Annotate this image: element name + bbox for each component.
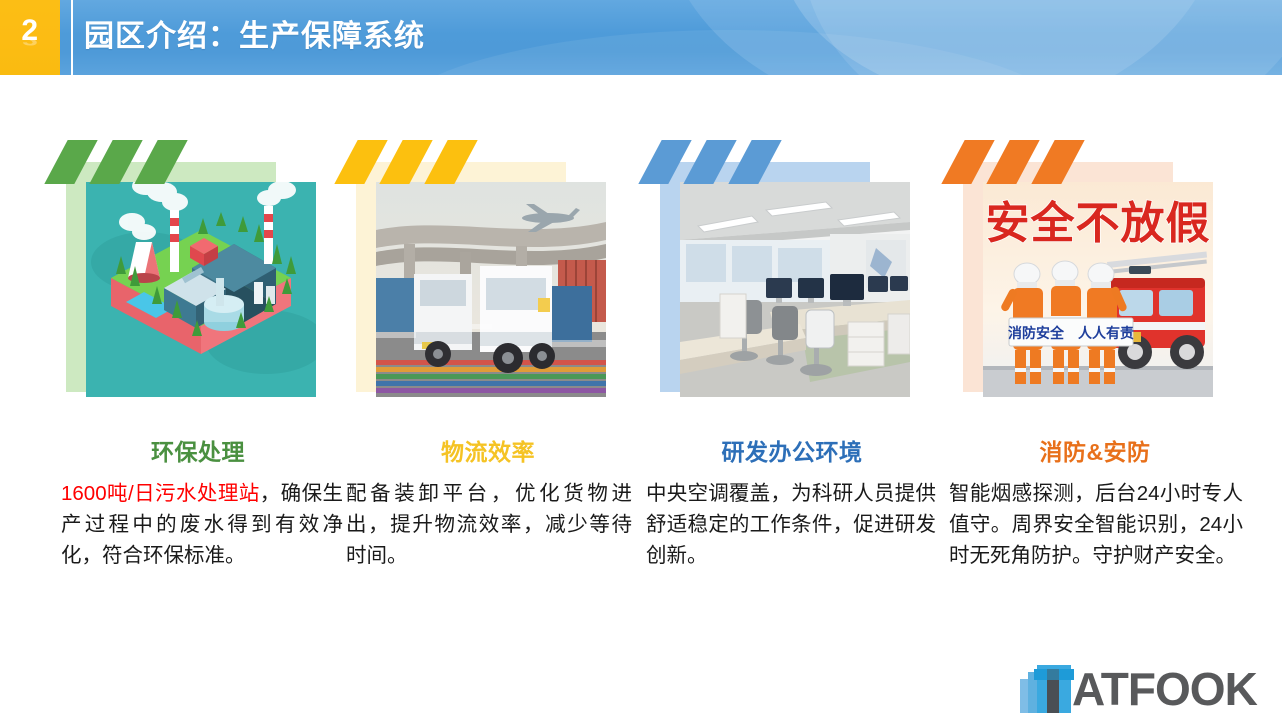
card-environmental-protection[interactable]: 环保处理 1600吨/日污水处理站，确保生产过程中的废水得到有效净化，符合环保标… bbox=[48, 140, 348, 640]
title-divider bbox=[71, 0, 73, 75]
office-workstations-photo bbox=[680, 182, 910, 397]
svg-text:安全不放假: 安全不放假 bbox=[986, 198, 1211, 248]
card-description: 中央空调覆盖，为科研人员提供舒适稳定的工作条件，促进研发创新。 bbox=[646, 478, 936, 571]
fire-safety-poster-illustration: 安全不放假 bbox=[983, 182, 1213, 397]
card-stripe-decoration bbox=[945, 140, 1125, 184]
slide-number-badge: 2 2 bbox=[0, 0, 60, 75]
card-description: 1600吨/日污水处理站，确保生产过程中的废水得到有效净化，符合环保标准。 bbox=[61, 478, 343, 571]
card-rd-office-environment[interactable]: 研发办公环境 中央空调覆盖，为科研人员提供舒适稳定的工作条件，促进研发创新。 bbox=[642, 140, 942, 640]
card-description-rest: 配备装卸平台，优化货物进出，提升物流效率，减少等待时间。 bbox=[346, 482, 632, 567]
card-description-rest: 智能烟感探测，后台24小时专人值守。周界安全智能识别，24小时无死角防护。守护财… bbox=[949, 482, 1243, 567]
card-logistics-efficiency[interactable]: 物流效率 配备装卸平台，优化货物进出，提升物流效率，减少等待时间。 bbox=[338, 140, 638, 640]
card-title: 消防&安防 bbox=[945, 438, 1245, 466]
card-description-highlight: 1600吨/日污水处理站 bbox=[61, 482, 260, 505]
tatfook-wordmark: ATFOOK bbox=[1072, 663, 1257, 715]
slide-header: 2 2 园区介绍：生产保障系统 bbox=[0, 0, 1282, 75]
card-stripe-decoration bbox=[642, 140, 822, 184]
card-title: 研发办公环境 bbox=[642, 438, 942, 466]
card-stripe-decoration bbox=[338, 140, 518, 184]
svg-text:消防安全 人人有责: 消防安全 人人有责 bbox=[1008, 325, 1134, 341]
card-description-rest: 中央空调覆盖，为科研人员提供舒适稳定的工作条件，促进研发创新。 bbox=[646, 482, 936, 567]
slide-number-reflection: 2 bbox=[0, 38, 60, 47]
card-fire-and-security[interactable]: 安全不放假 bbox=[945, 140, 1245, 640]
logistics-trucks-photo bbox=[376, 182, 606, 397]
card-title: 物流效率 bbox=[338, 438, 638, 466]
card-stripe-decoration bbox=[48, 140, 228, 184]
power-plant-isometric-illustration bbox=[86, 182, 316, 397]
card-title: 环保处理 bbox=[48, 438, 348, 466]
card-description: 配备装卸平台，优化货物进出，提升物流效率，减少等待时间。 bbox=[346, 478, 632, 571]
card-description: 智能烟感探测，后台24小时专人值守。周界安全智能识别，24小时无死角防护。守护财… bbox=[949, 478, 1243, 571]
page-title: 园区介绍：生产保障系统 bbox=[84, 17, 425, 57]
